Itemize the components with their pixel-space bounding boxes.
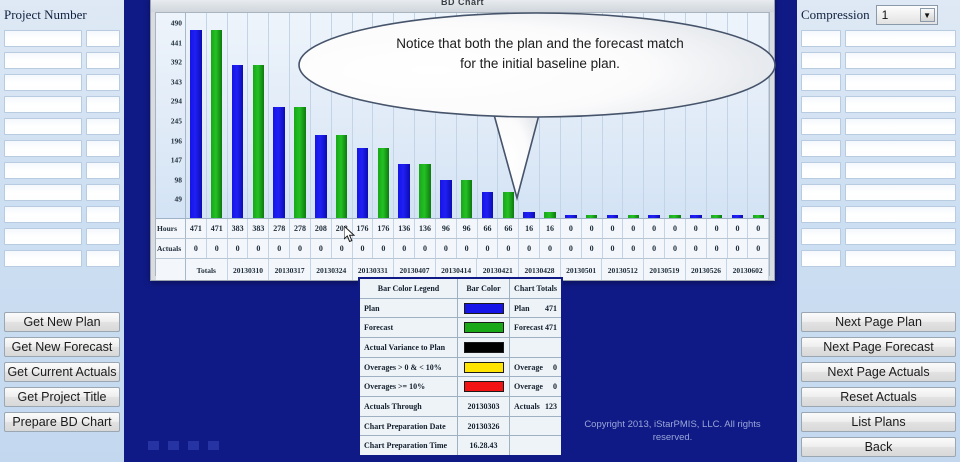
- bar-plan-Totals: [190, 30, 202, 218]
- compression-field-1-4[interactable]: [801, 96, 841, 113]
- project-field-1-11[interactable]: [4, 250, 82, 267]
- y-tick-392: 392: [171, 58, 182, 67]
- hours-cell-20: 0: [603, 219, 624, 238]
- legend-swatch-cell-1: [458, 318, 510, 337]
- bar-forecast-20130310: [253, 65, 265, 218]
- action-button-list-plans[interactable]: List Plans: [801, 412, 956, 432]
- bar-slot: [290, 13, 311, 218]
- bar-plan-20130421: [482, 192, 494, 218]
- actuals-cell-4: 0: [269, 239, 290, 258]
- legend-swatch-cell-7: 16.28.43: [458, 436, 510, 455]
- compression-field-1-5[interactable]: [801, 118, 841, 135]
- compression-field-2-4[interactable]: [845, 96, 956, 113]
- compression-header: Compression 1 ▼: [797, 0, 960, 30]
- bar-slot: [665, 13, 686, 218]
- legend-total-label-6: [510, 417, 561, 436]
- legend-header-col1: Bar Color Legend: [360, 279, 458, 298]
- left-button-stack: Get New PlanGet New ForecastGet Current …: [4, 312, 120, 432]
- date-cell-2: 20130317: [269, 259, 311, 281]
- right-form-panel: Compression 1 ▼ Next Page PlanNext Page …: [797, 0, 960, 462]
- hours-cell-15: 66: [498, 219, 519, 238]
- bar-plan-20130501: [565, 215, 577, 218]
- actuals-row: Actuals 0000000000000000000000000000: [156, 239, 769, 259]
- chart-plot-container: 4904413923432942451961479849 Hours 47147…: [155, 12, 770, 276]
- actuals-cell-17: 0: [540, 239, 561, 258]
- right-field-grid: [797, 30, 960, 267]
- hours-cell-24: 0: [686, 219, 707, 238]
- hours-cell-2: 383: [228, 219, 249, 238]
- chart-window-title: BD Chart: [151, 0, 774, 12]
- legend-header-col2: Bar Color: [458, 279, 510, 298]
- bar-forecast-20130421: [503, 192, 515, 218]
- project-field-2-11[interactable]: [86, 250, 120, 267]
- hours-cell-17: 16: [540, 219, 561, 238]
- bar-forecast-20130324: [336, 135, 348, 218]
- date-cell-3: 20130324: [311, 259, 353, 281]
- actuals-row-cells: 0000000000000000000000000000: [186, 239, 769, 258]
- legend-swatch-cell-6: 20130326: [458, 417, 510, 436]
- compression-field-2-1[interactable]: [845, 30, 956, 47]
- bar-slot: [748, 13, 769, 218]
- actuals-cell-1: 0: [207, 239, 228, 258]
- action-button-next-page-plan[interactable]: Next Page Plan: [801, 312, 956, 332]
- legend-label-4: Overages >= 10%: [360, 377, 458, 396]
- legend-swatch-cell-2: [458, 338, 510, 357]
- y-tick-147: 147: [171, 156, 182, 165]
- forward-icon[interactable]: [208, 441, 219, 450]
- hours-cell-18: 0: [561, 219, 582, 238]
- hours-cell-27: 0: [748, 219, 769, 238]
- y-tick-196: 196: [171, 136, 182, 145]
- project-field-2-6[interactable]: [86, 140, 120, 157]
- date-cell-1: 20130310: [228, 259, 270, 281]
- legend-row-0: PlanPlan471: [360, 299, 561, 319]
- date-cell-10: 20130512: [602, 259, 644, 281]
- legend-swatch-cell-5: 20130303: [458, 397, 510, 416]
- legend-row-2: Actual Variance to Plan: [360, 338, 561, 358]
- legend-total-value-4: 0: [553, 382, 561, 391]
- project-field-1-10[interactable]: [4, 228, 82, 245]
- bar-slot: [353, 13, 374, 218]
- hours-cell-23: 0: [665, 219, 686, 238]
- actuals-cell-23: 0: [665, 239, 686, 258]
- bar-plan-20130407: [398, 164, 410, 218]
- stop-icon[interactable]: [188, 441, 199, 450]
- compression-field-2-11[interactable]: [845, 250, 956, 267]
- compression-field-1-8[interactable]: [801, 184, 841, 201]
- compression-field-1-10[interactable]: [801, 228, 841, 245]
- hours-cell-12: 96: [436, 219, 457, 238]
- actuals-cell-26: 0: [728, 239, 749, 258]
- bar-forecast-20130602: [753, 215, 765, 218]
- color-swatch-icon: [464, 381, 504, 392]
- bar-forecast-20130428: [544, 212, 556, 218]
- bar-forecast-20130407: [419, 164, 431, 218]
- actuals-cell-18: 0: [561, 239, 582, 258]
- bar-plan-20130512: [607, 215, 619, 218]
- bar-plan-20130519: [648, 215, 660, 218]
- bar-plan-20130324: [315, 135, 327, 218]
- y-tick-245: 245: [171, 117, 182, 126]
- actuals-cell-9: 0: [373, 239, 394, 258]
- compression-column-1: [801, 30, 841, 267]
- compression-field-2-2[interactable]: [845, 52, 956, 69]
- compression-field-2-5[interactable]: [845, 118, 956, 135]
- bar-forecast-20130414: [461, 180, 473, 218]
- bar-forecast-20130501: [586, 215, 598, 218]
- color-swatch-icon: [464, 342, 504, 353]
- mouse-cursor-icon: [344, 226, 356, 243]
- compression-label: Compression: [801, 7, 870, 23]
- action-button-reset-actuals[interactable]: Reset Actuals: [801, 387, 956, 407]
- actuals-cell-6: 0: [311, 239, 332, 258]
- bd-chart-window: BD Chart 4904413923432942451961479849 Ho…: [150, 0, 775, 281]
- bar-slot: [561, 13, 582, 218]
- compression-field-1-11[interactable]: [801, 250, 841, 267]
- hours-cell-11: 136: [415, 219, 436, 238]
- back-icon[interactable]: [148, 441, 159, 450]
- bar-slot: [623, 13, 644, 218]
- bar-slot: [373, 13, 394, 218]
- bar-forecast-20130317: [294, 107, 306, 218]
- legend-row-1: ForecastForecast471: [360, 318, 561, 338]
- project-column-2: [86, 30, 120, 267]
- legend-swatch-cell-4: [458, 377, 510, 396]
- project-field-1-3[interactable]: [4, 74, 82, 91]
- project-field-1-9[interactable]: [4, 206, 82, 223]
- compression-field-1-3[interactable]: [801, 74, 841, 91]
- legend-swatch-cell-0: [458, 299, 510, 318]
- date-cell-12: 20130526: [686, 259, 728, 281]
- project-field-1-4[interactable]: [4, 96, 82, 113]
- hours-cell-5: 278: [290, 219, 311, 238]
- legend-label-6: Chart Preparation Date: [360, 417, 458, 436]
- hours-row-cells: 4714713833832782782082081761761361369696…: [186, 219, 769, 238]
- bar-plan-20130428: [523, 212, 535, 218]
- bar-plan-20130414: [440, 180, 452, 218]
- legend-total-label-0: Plan471: [510, 299, 561, 318]
- left-form-panel: Project Number Get New PlanGet New Forec…: [0, 0, 124, 462]
- legend-header-col3: Chart Totals: [510, 279, 561, 298]
- compression-column-2: [845, 30, 956, 267]
- hours-cell-3: 383: [248, 219, 269, 238]
- hours-cell-9: 176: [373, 219, 394, 238]
- color-swatch-icon: [464, 322, 504, 333]
- bar-slot: [228, 13, 249, 218]
- legend-total-label-4: Overage0: [510, 377, 561, 396]
- date-cell-0: Totals: [186, 259, 228, 281]
- project-field-2-8[interactable]: [86, 184, 120, 201]
- bar-slot: [207, 13, 228, 218]
- date-cell-13: 20130602: [727, 259, 769, 281]
- compression-field-2-7[interactable]: [845, 162, 956, 179]
- bar-slot: [269, 13, 290, 218]
- bar-slot: [582, 13, 603, 218]
- actuals-cell-16: 0: [519, 239, 540, 258]
- actuals-cell-5: 0: [290, 239, 311, 258]
- application-window: Project Number Get New PlanGet New Forec…: [0, 0, 960, 462]
- legend-swatch-cell-3: [458, 358, 510, 377]
- hours-cell-4: 278: [269, 219, 290, 238]
- actuals-cell-19: 0: [582, 239, 603, 258]
- legend-label-5: Actuals Through: [360, 397, 458, 416]
- bar-slot: [478, 13, 499, 218]
- hours-cell-26: 0: [728, 219, 749, 238]
- action-button-get-project-title[interactable]: Get Project Title: [4, 387, 120, 407]
- actuals-cell-21: 0: [623, 239, 644, 258]
- compression-field-1-1[interactable]: [801, 30, 841, 47]
- hours-cell-13: 96: [457, 219, 478, 238]
- y-tick-49: 49: [175, 195, 183, 204]
- bar-slot: [186, 13, 207, 218]
- bar-slot: [415, 13, 436, 218]
- action-button-back[interactable]: Back: [801, 437, 956, 457]
- actuals-row-label: Actuals: [156, 239, 186, 258]
- hours-cell-25: 0: [707, 219, 728, 238]
- hours-row-label: Hours: [156, 219, 186, 238]
- project-field-1-8[interactable]: [4, 184, 82, 201]
- bar-plan-20130602: [732, 215, 744, 218]
- project-field-1-1[interactable]: [4, 30, 82, 47]
- legend-total-label-5: Actuals123: [510, 397, 561, 416]
- y-axis: 4904413923432942451961479849: [156, 13, 186, 218]
- y-tick-343: 343: [171, 77, 182, 86]
- compression-field-2-3[interactable]: [845, 74, 956, 91]
- actuals-cell-24: 0: [686, 239, 707, 258]
- action-button-next-page-actuals[interactable]: Next Page Actuals: [801, 362, 956, 382]
- legend-label-2: Actual Variance to Plan: [360, 338, 458, 357]
- color-swatch-icon: [464, 362, 504, 373]
- legend-total-value-0: 471: [545, 304, 561, 313]
- hours-cell-0: 471: [186, 219, 207, 238]
- actuals-cell-20: 0: [603, 239, 624, 258]
- bar-slot: [728, 13, 749, 218]
- bar-slot: [394, 13, 415, 218]
- compression-select[interactable]: 1 ▼: [876, 5, 938, 25]
- project-field-2-2[interactable]: [86, 52, 120, 69]
- legend-label-3: Overages > 0 & < 10%: [360, 358, 458, 377]
- actuals-cell-15: 0: [498, 239, 519, 258]
- actuals-cell-0: 0: [186, 239, 207, 258]
- date-cell-11: 20130519: [644, 259, 686, 281]
- date-cell-9: 20130501: [561, 259, 603, 281]
- bar-plan-20130310: [232, 65, 244, 218]
- left-field-grid: [0, 30, 124, 267]
- project-field-2-9[interactable]: [86, 206, 120, 223]
- legend-total-value-3: 0: [553, 363, 561, 372]
- chart-plot-area: 4904413923432942451961479849: [156, 13, 769, 219]
- project-field-1-2[interactable]: [4, 52, 82, 69]
- actuals-cell-14: 0: [478, 239, 499, 258]
- legend-row-4: Overages >= 10%Overage0: [360, 377, 561, 397]
- project-field-1-7[interactable]: [4, 162, 82, 179]
- bar-forecast-20130519: [669, 215, 681, 218]
- legend-table: Bar Color Legend Bar Color Chart Totals …: [358, 277, 563, 457]
- action-button-get-new-forecast[interactable]: Get New Forecast: [4, 337, 120, 357]
- right-button-stack: Next Page PlanNext Page ForecastNext Pag…: [801, 312, 956, 457]
- action-button-next-page-forecast[interactable]: Next Page Forecast: [801, 337, 956, 357]
- legend-total-label-2: [510, 338, 561, 357]
- actuals-cell-11: 0: [415, 239, 436, 258]
- legend-row-5: Actuals Through20130303Actuals123: [360, 397, 561, 417]
- compression-field-1-9[interactable]: [801, 206, 841, 223]
- legend-row-3: Overages > 0 & < 10%Overage0: [360, 358, 561, 378]
- bar-slot: [436, 13, 457, 218]
- hours-cell-22: 0: [644, 219, 665, 238]
- actuals-cell-27: 0: [748, 239, 769, 258]
- bar-plan-20130331: [357, 148, 369, 218]
- compression-field-2-6[interactable]: [845, 140, 956, 157]
- bar-slot: [457, 13, 478, 218]
- legend-header-row: Bar Color Legend Bar Color Chart Totals: [360, 279, 561, 299]
- compression-value: 1: [882, 8, 889, 22]
- bar-plan-20130526: [690, 215, 702, 218]
- hours-row: Hours 4714713833832782782082081761761361…: [156, 219, 769, 239]
- bar-slot: [248, 13, 269, 218]
- project-field-1-5[interactable]: [4, 118, 82, 135]
- actuals-cell-2: 0: [228, 239, 249, 258]
- legend-label-7: Chart Preparation Time: [360, 436, 458, 455]
- bar-slot: [332, 13, 353, 218]
- bar-slot: [707, 13, 728, 218]
- actuals-cell-13: 0: [457, 239, 478, 258]
- bar-slot: [686, 13, 707, 218]
- legend-label-0: Plan: [360, 299, 458, 318]
- hours-cell-19: 0: [582, 219, 603, 238]
- bar-forecast-Totals: [211, 30, 223, 218]
- bar-forecast-20130526: [711, 215, 723, 218]
- action-button-get-current-actuals[interactable]: Get Current Actuals: [4, 362, 120, 382]
- legend-label-1: Forecast: [360, 318, 458, 337]
- hours-cell-6: 208: [311, 219, 332, 238]
- action-button-prepare-bd-chart[interactable]: Prepare BD Chart: [4, 412, 120, 432]
- legend-total-label-7: [510, 436, 561, 455]
- actuals-cell-10: 0: [394, 239, 415, 258]
- copyright-text: Copyright 2013, iStarPMIS, LLC. All righ…: [565, 418, 780, 445]
- legend-row-7: Chart Preparation Time16.28.43: [360, 436, 561, 455]
- y-tick-441: 441: [171, 38, 182, 47]
- pencil-icon[interactable]: [168, 441, 179, 450]
- project-number-header: Project Number: [0, 0, 124, 30]
- color-swatch-icon: [464, 303, 504, 314]
- compression-field-2-9[interactable]: [845, 206, 956, 223]
- bar-series-container: [186, 13, 769, 218]
- bar-forecast-20130512: [628, 215, 640, 218]
- y-tick-294: 294: [171, 97, 182, 106]
- record-navigation-bar[interactable]: [140, 432, 250, 458]
- bar-slot: [603, 13, 624, 218]
- compression-field-2-10[interactable]: [845, 228, 956, 245]
- hours-cell-1: 471: [207, 219, 228, 238]
- project-number-label: Project Number: [4, 7, 87, 23]
- project-field-2-4[interactable]: [86, 96, 120, 113]
- hours-cell-14: 66: [478, 219, 499, 238]
- legend-row-6: Chart Preparation Date20130326: [360, 417, 561, 437]
- actuals-cell-3: 0: [248, 239, 269, 258]
- actuals-cell-12: 0: [436, 239, 457, 258]
- project-field-2-3[interactable]: [86, 74, 120, 91]
- y-tick-490: 490: [171, 19, 182, 28]
- legend-total-label-3: Overage0: [510, 358, 561, 377]
- legend-total-value-1: 471: [545, 323, 561, 332]
- bar-slot: [644, 13, 665, 218]
- project-field-2-10[interactable]: [86, 228, 120, 245]
- compression-field-2-8[interactable]: [845, 184, 956, 201]
- legend-total-value-5: 123: [545, 402, 561, 411]
- action-button-get-new-plan[interactable]: Get New Plan: [4, 312, 120, 332]
- hours-cell-10: 136: [394, 219, 415, 238]
- chevron-down-icon[interactable]: ▼: [920, 8, 935, 22]
- bar-slot: [519, 13, 540, 218]
- legend-total-label-1: Forecast471: [510, 318, 561, 337]
- dates-row-label: [156, 259, 186, 281]
- compression-field-1-6[interactable]: [801, 140, 841, 157]
- project-field-2-5[interactable]: [86, 118, 120, 135]
- project-field-2-1[interactable]: [86, 30, 120, 47]
- bar-forecast-20130331: [378, 148, 390, 218]
- bar-slot: [311, 13, 332, 218]
- y-tick-98: 98: [175, 175, 183, 184]
- compression-field-1-7[interactable]: [801, 162, 841, 179]
- project-field-1-6[interactable]: [4, 140, 82, 157]
- actuals-cell-22: 0: [644, 239, 665, 258]
- compression-field-1-2[interactable]: [801, 52, 841, 69]
- hours-cell-16: 16: [519, 219, 540, 238]
- project-column-1: [4, 30, 82, 267]
- project-field-2-7[interactable]: [86, 162, 120, 179]
- bar-slot: [540, 13, 561, 218]
- actuals-cell-25: 0: [707, 239, 728, 258]
- bar-slot: [498, 13, 519, 218]
- hours-cell-21: 0: [623, 219, 644, 238]
- bar-plan-20130317: [273, 107, 285, 218]
